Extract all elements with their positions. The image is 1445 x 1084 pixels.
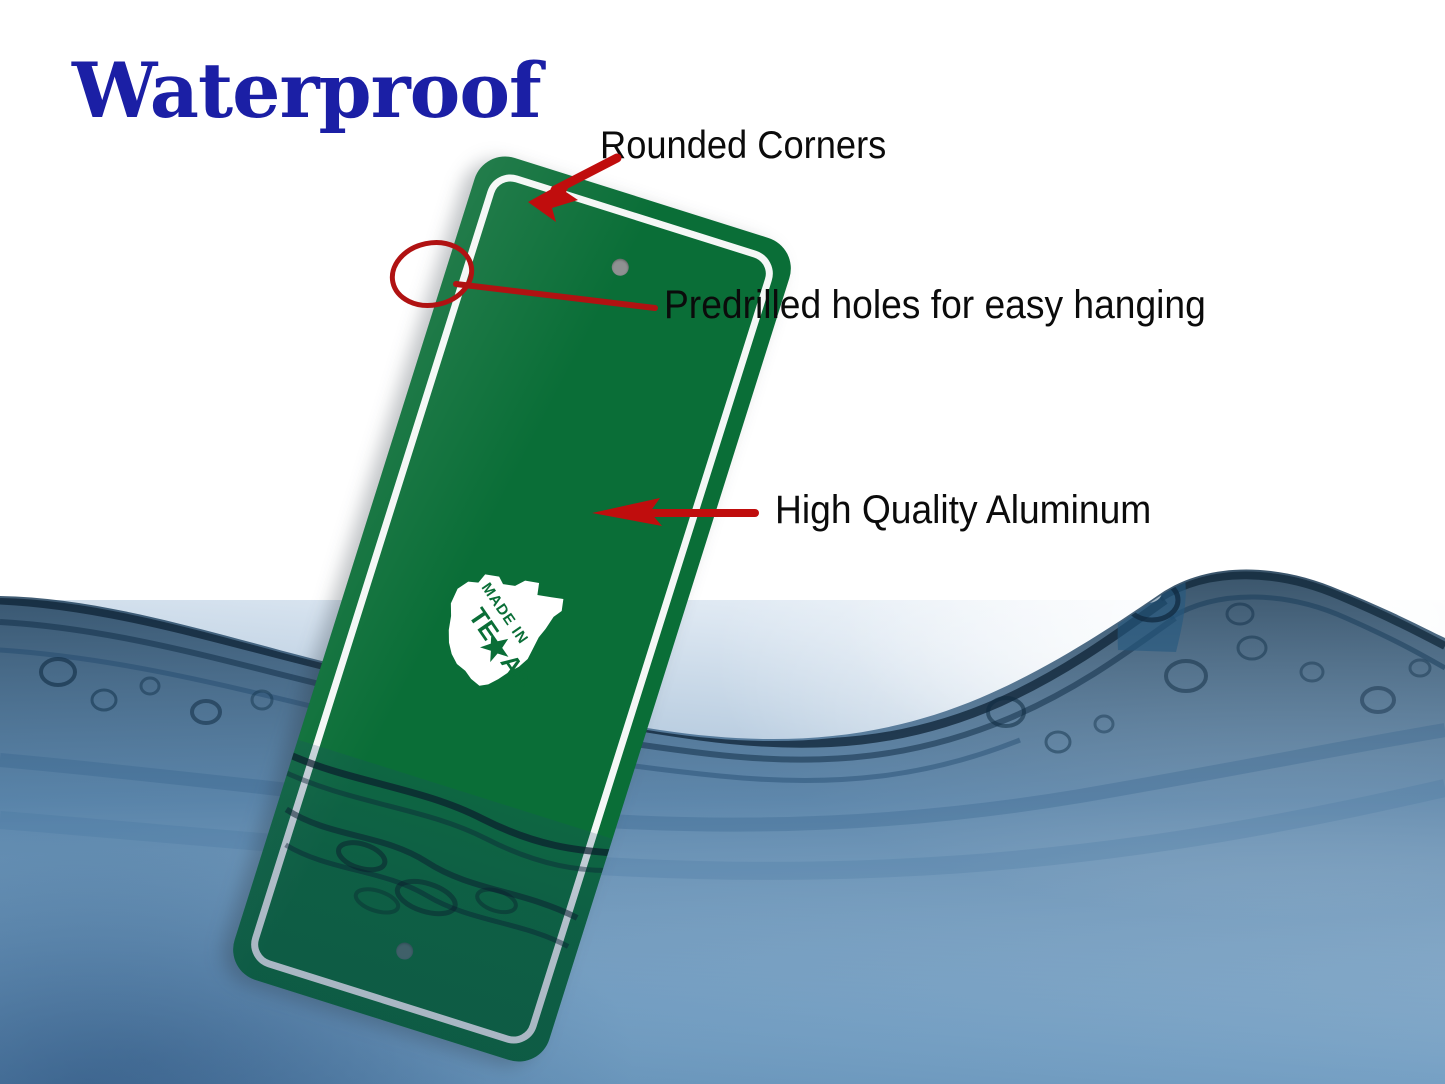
callout-label-high-quality-aluminum: High Quality Aluminum bbox=[775, 488, 1151, 533]
callout-label-rounded-corners: Rounded Corners bbox=[600, 124, 886, 168]
product-feature-graphic: MADE IN TE AS bbox=[0, 0, 1445, 1084]
water-depth-shading bbox=[0, 600, 1445, 1084]
page-title: Waterproof bbox=[72, 46, 541, 135]
water-body bbox=[0, 600, 1445, 1084]
callout-label-predrilled-holes: Predrilled holes for easy hanging bbox=[664, 283, 1206, 328]
